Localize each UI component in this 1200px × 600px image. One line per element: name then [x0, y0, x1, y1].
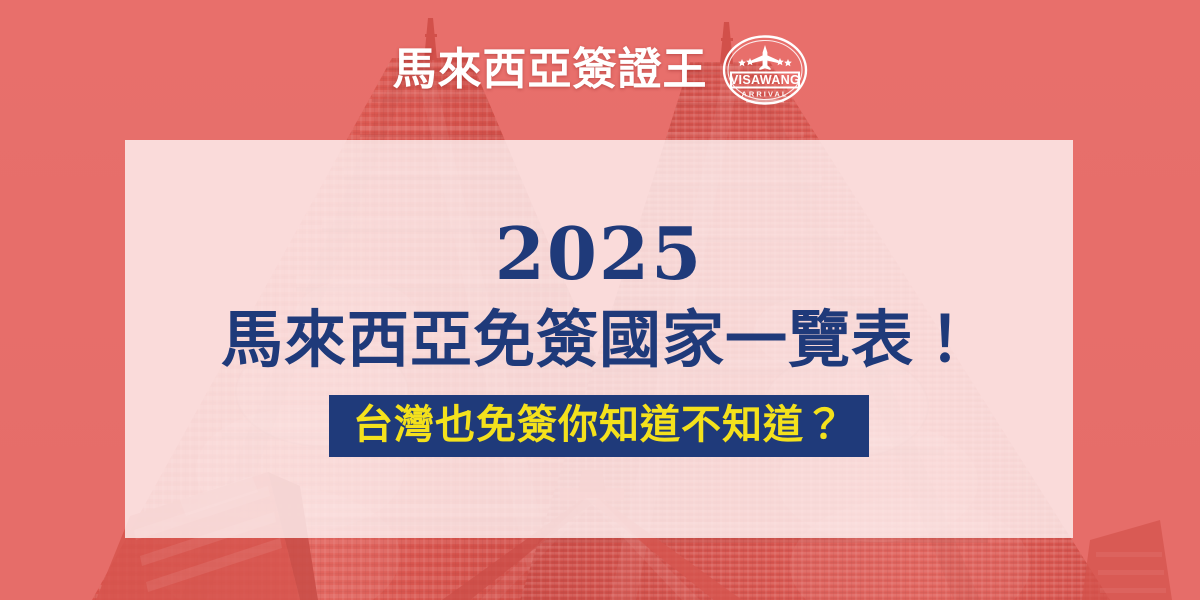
visawang-stamp-graphic: VISAWANG ARRIVAL	[722, 34, 808, 106]
promo-banner: 馬來西亞簽證王	[0, 0, 1200, 600]
stars-left-icon	[738, 58, 754, 66]
subtitle-text: 台灣也免簽你知道不知道？	[353, 403, 845, 447]
banner-header: 馬來西亞簽證王	[0, 0, 1200, 140]
brand-title: 馬來西亞簽證王	[393, 48, 708, 92]
stamp-brand-text: VISAWANG	[729, 73, 799, 87]
stamp-tagline-text: ARRIVAL	[741, 90, 788, 99]
stars-right-icon	[776, 58, 792, 66]
subtitle-banner: 台灣也免簽你知道不知道？	[329, 395, 869, 457]
banner-content: 2025 馬來西亞免簽國家一覽表！ 台灣也免簽你知道不知道？	[125, 140, 1073, 538]
airplane-icon	[751, 45, 779, 70]
year-heading: 2025	[495, 218, 703, 290]
page-title: 馬來西亞免簽國家一覽表！	[221, 308, 977, 373]
visawang-logo-stamp: VISAWANG ARRIVAL	[722, 34, 808, 106]
